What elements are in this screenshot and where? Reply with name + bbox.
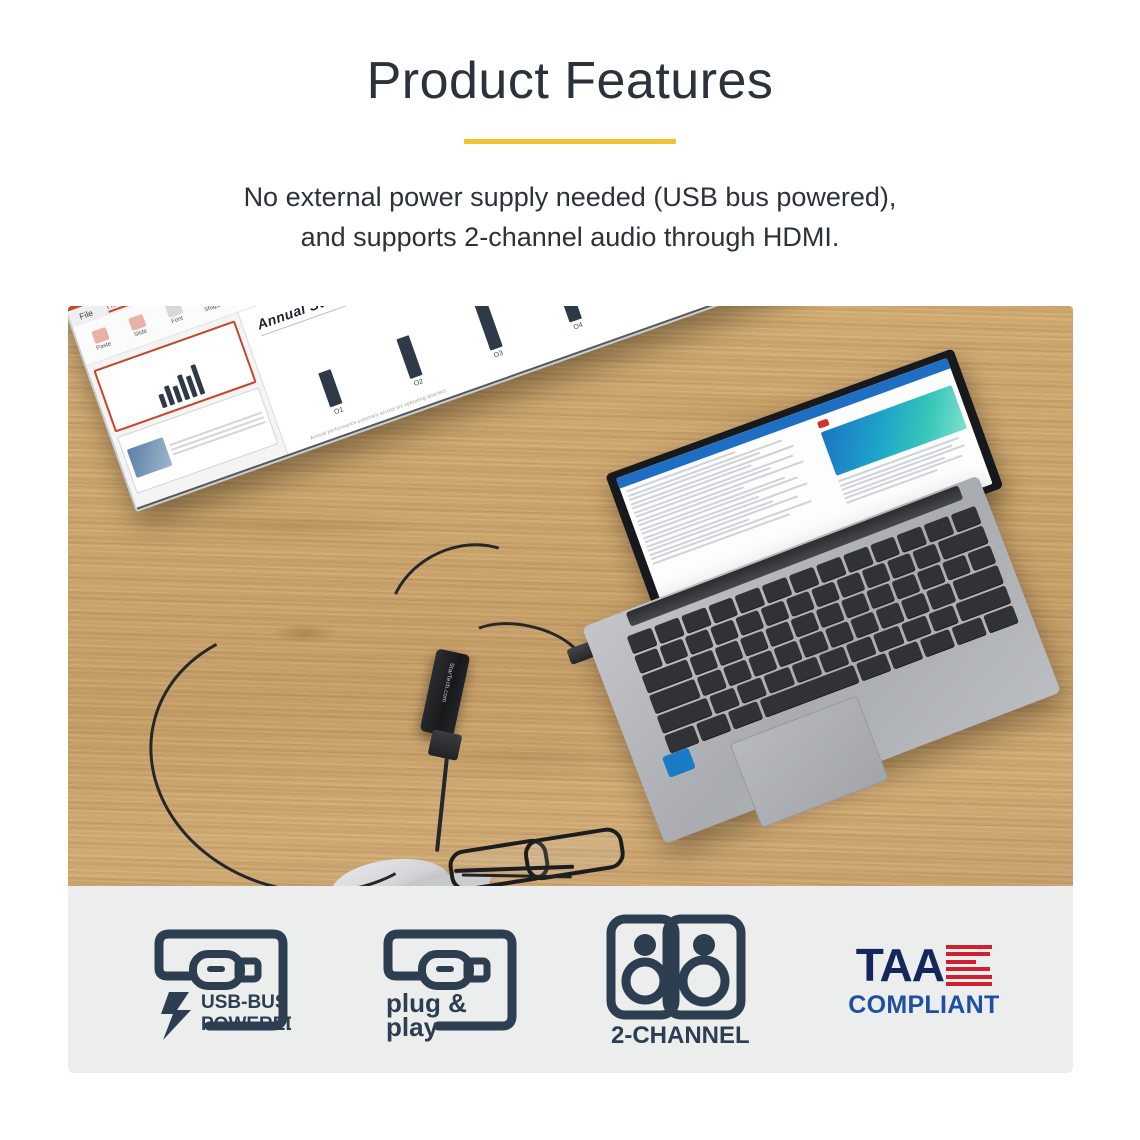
usb-plug-icon: plug & play bbox=[370, 914, 520, 1046]
ribbon-label: Shapes bbox=[203, 306, 224, 313]
taa-compliant-label: COMPLIANT bbox=[848, 993, 999, 1018]
chart-bar bbox=[318, 369, 342, 408]
badge-usb-bus-powered: USB-BUS POWERED bbox=[141, 914, 291, 1046]
taa-word: TAA bbox=[856, 942, 944, 988]
badge-taa-compliant: TAA COMPLIANT bbox=[848, 942, 999, 1018]
laptop bbox=[538, 363, 1068, 849]
badge-line-2: play bbox=[386, 1012, 439, 1042]
chart-bar-label: O1 bbox=[333, 406, 344, 416]
annual-statistics-chart: O1 O2 O3 O4 O5 O6 bbox=[274, 306, 773, 427]
chart-bar-label: O3 bbox=[493, 350, 504, 360]
badge-plug-and-play: plug & play bbox=[370, 914, 520, 1046]
chart-bar-group: O1 bbox=[274, 312, 374, 426]
product-photo: Presentation 1 - PowerPoint — □ ✕ File H… bbox=[68, 306, 1073, 886]
chart-bar bbox=[474, 306, 503, 351]
badge-line-1: USB-BUS bbox=[201, 992, 288, 1013]
slide-canvas: Annual Statistics O1 O2 O3 O4 O5 O6 Annu… bbox=[238, 306, 793, 456]
badge-label: 2-CHANNEL bbox=[611, 1022, 750, 1049]
adapter-brand-label: StarTech.com bbox=[443, 662, 455, 691]
intel-sticker-icon bbox=[662, 747, 696, 778]
record-indicator-icon bbox=[817, 419, 830, 429]
chart-bar-label: O4 bbox=[573, 322, 584, 332]
chart-bar-label: O2 bbox=[413, 378, 424, 388]
ribbon-item-slide[interactable]: Slide bbox=[122, 312, 154, 340]
ribbon-item-shapes[interactable]: Shapes bbox=[196, 306, 228, 314]
eyeglasses bbox=[444, 805, 643, 886]
ribbon-item-paste[interactable]: Paste bbox=[86, 325, 118, 353]
chart-bar-group: O2 bbox=[354, 306, 454, 398]
subtitle-line-2: and supports 2-channel audio through HDM… bbox=[120, 218, 1020, 258]
taa-flag-icon bbox=[946, 945, 992, 987]
ribbon-item-font[interactable]: Font bbox=[159, 306, 191, 327]
badge-line-2: POWERED bbox=[201, 1014, 291, 1035]
chart-bar bbox=[396, 335, 422, 379]
badge-two-channel: 2-CHANNEL bbox=[599, 911, 769, 1049]
chart-bar bbox=[551, 306, 582, 323]
header: Product Features No external power suppl… bbox=[0, 0, 1140, 258]
feature-badge-strip: USB-BUS POWERED plug & play bbox=[68, 886, 1073, 1073]
usb-plug-with-lightning-bolt-icon: USB-BUS POWERED bbox=[141, 914, 291, 1046]
subtitle: No external power supply needed (USB bus… bbox=[120, 178, 1020, 258]
tab-file[interactable]: File bbox=[78, 307, 94, 321]
page-title: Product Features bbox=[0, 0, 1140, 109]
thumb-image bbox=[127, 437, 173, 478]
thumb-bar bbox=[158, 394, 167, 409]
subtitle-line-1: No external power supply needed (USB bus… bbox=[120, 178, 1020, 218]
stereo-speakers-icon: 2-CHANNEL bbox=[599, 911, 769, 1049]
ribbon-label: Font bbox=[171, 315, 184, 325]
title-divider bbox=[464, 139, 676, 144]
taa-logo: TAA COMPLIANT bbox=[848, 942, 999, 1018]
product-feature-card: Product Features No external power suppl… bbox=[0, 0, 1140, 1140]
